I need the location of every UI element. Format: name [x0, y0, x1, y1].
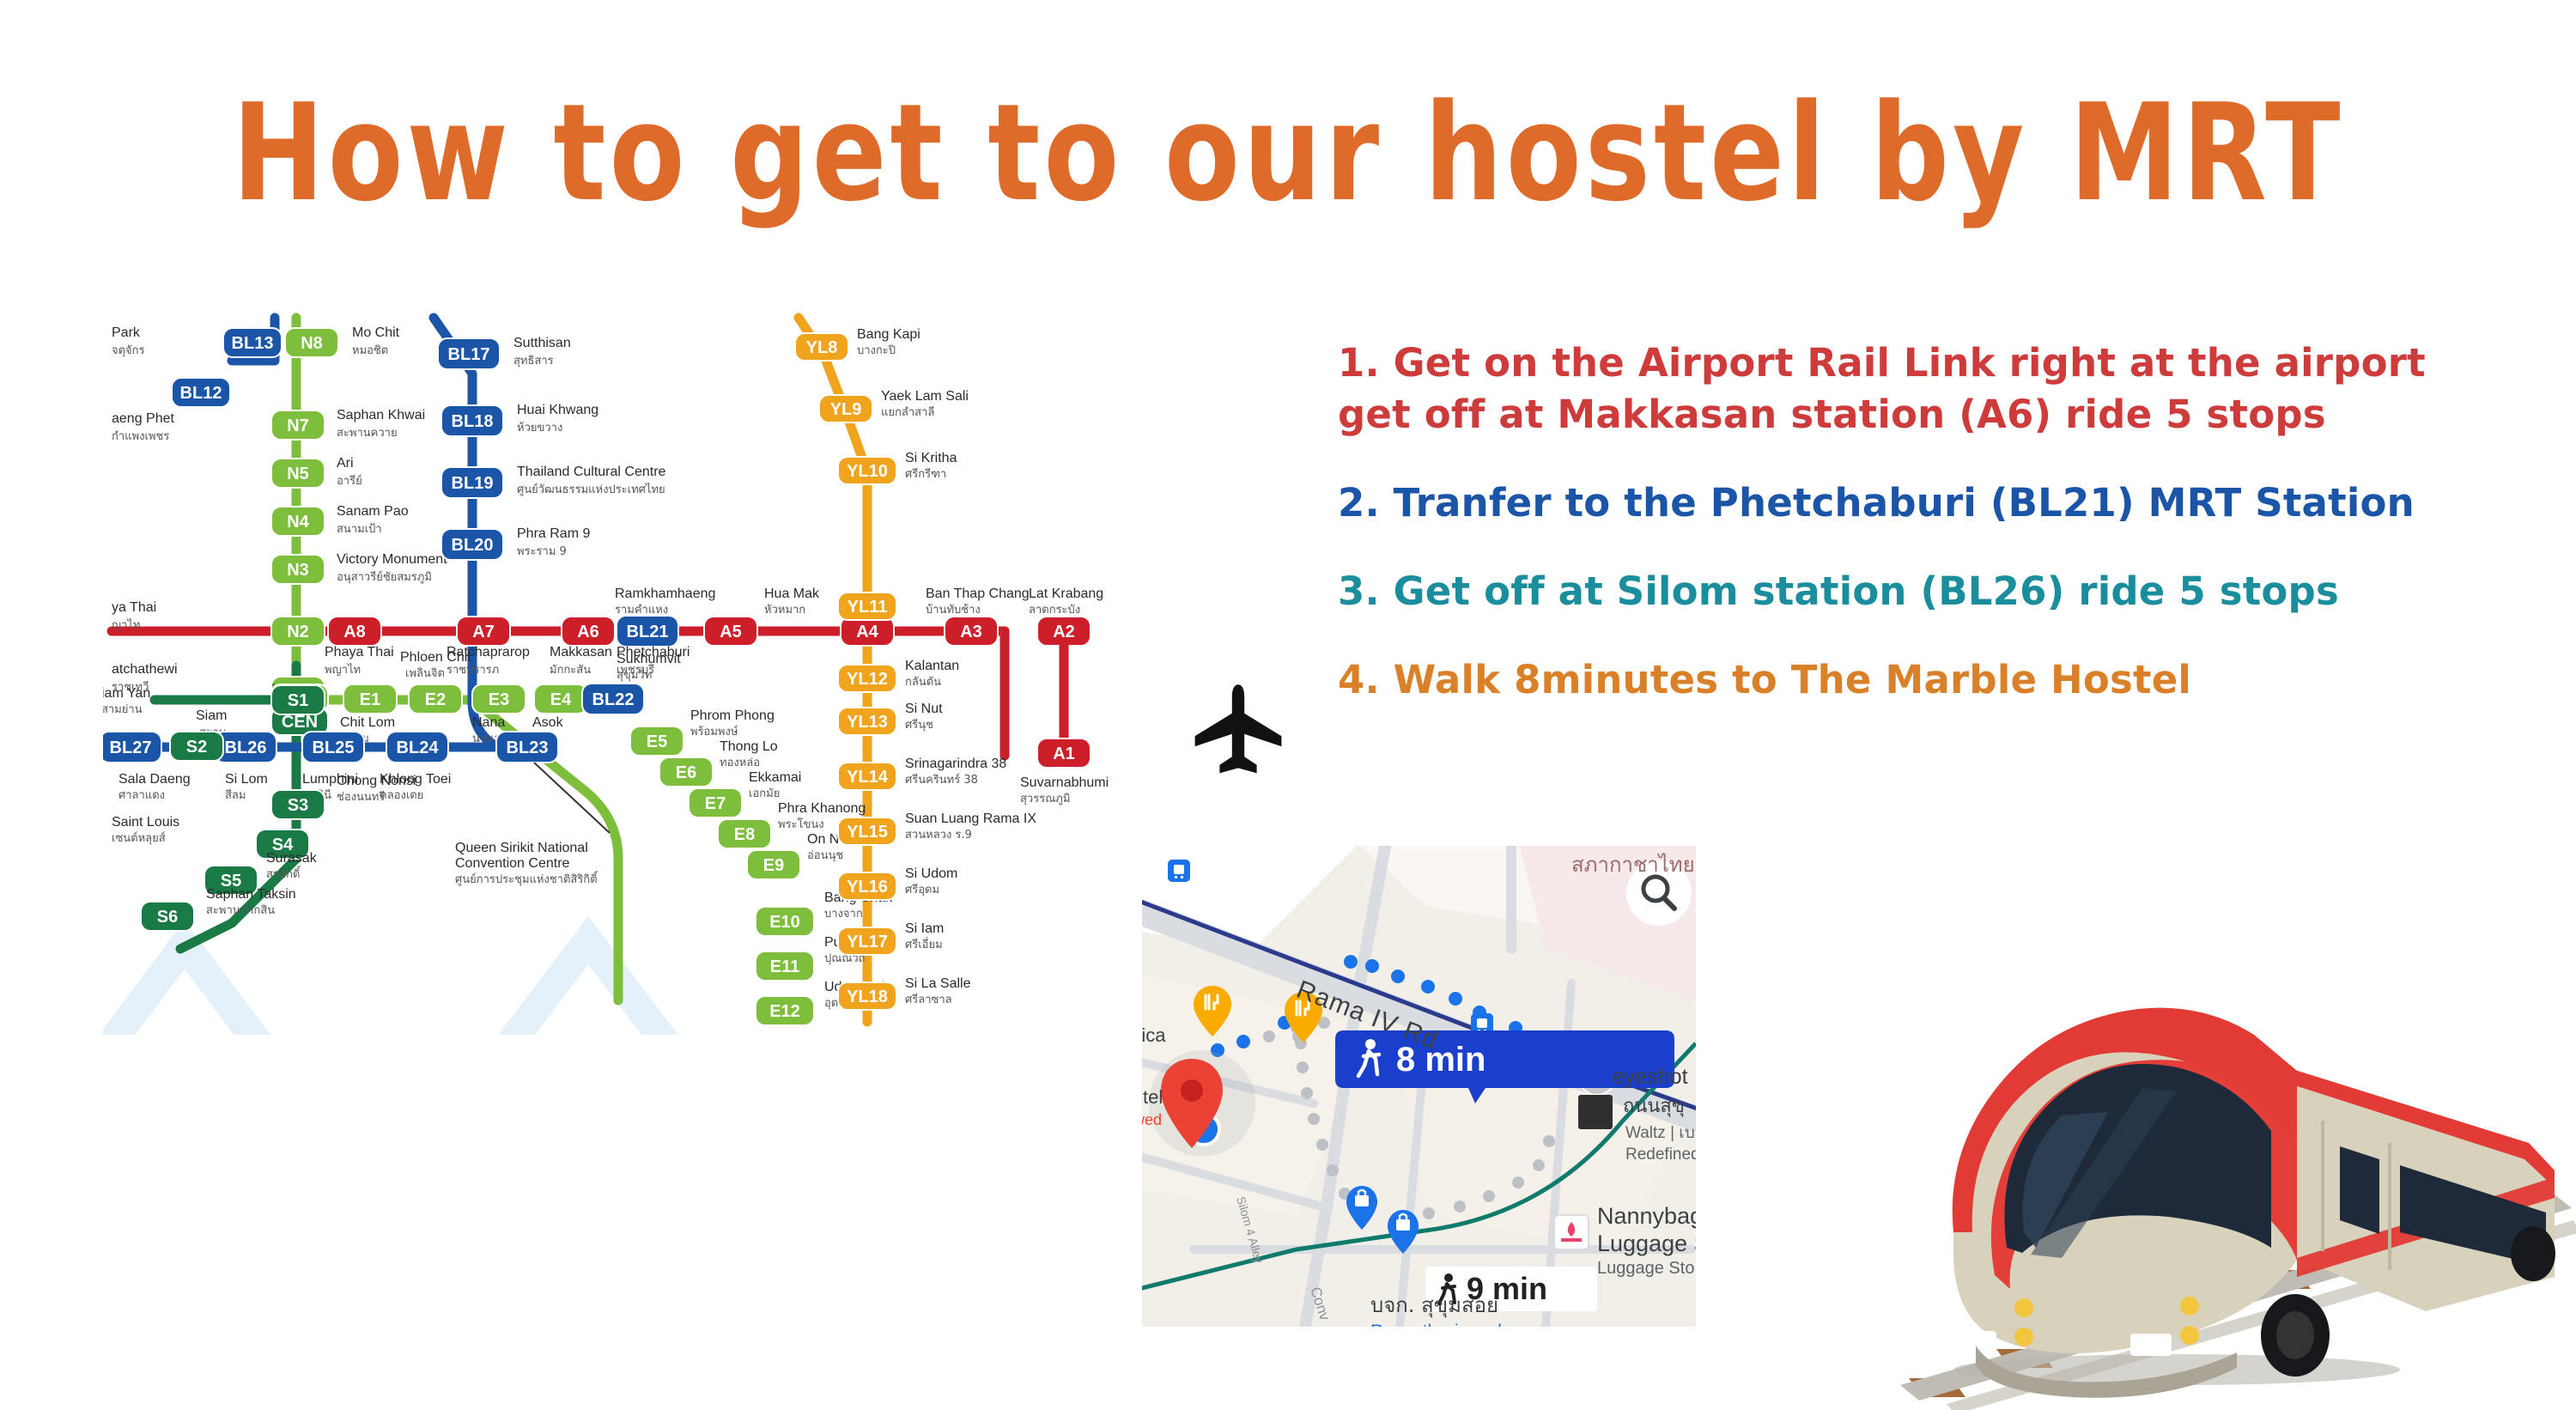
station-E5: E5	[630, 726, 683, 756]
station-BL18: BL18	[441, 405, 503, 436]
station-label-bang-kapi: Bang Kapi	[857, 327, 920, 342]
station-A6: A6	[562, 617, 615, 646]
poi-label-hostel-sub: wed	[1142, 1111, 1162, 1128]
train-headlight	[2014, 1298, 2033, 1317]
svg-text:กำแพงเพชร: กำแพงเพชร	[112, 430, 169, 443]
station-label-ekkamai: Ekkamai	[749, 770, 801, 785]
station-label-si-lom: Si Lom	[225, 772, 268, 787]
station-label-ratchathewi: atchathewi	[112, 662, 178, 677]
station-S6: S6	[141, 902, 194, 931]
svg-text:YL16: YL16	[847, 878, 888, 896]
svg-text:หัวหมาก: หัวหมาก	[764, 604, 805, 617]
poi-label-rica: rica	[1142, 1024, 1166, 1046]
poi-label-waltz: Waltz | เบ	[1625, 1124, 1695, 1142]
svg-text:E3: E3	[489, 690, 509, 709]
svg-text:ห้วยขวาง: ห้วยขวาง	[517, 422, 562, 435]
train-illustration	[1893, 975, 2576, 1410]
svg-text:BL19: BL19	[452, 474, 494, 493]
station-label-sam-yan: iam Yan	[103, 686, 150, 701]
poi-label-luggage-sub: Luggage Sto	[1597, 1259, 1694, 1278]
poi-label-eyeshot: eyeshot	[1613, 1065, 1688, 1089]
svg-text:N7: N7	[287, 416, 309, 435]
poi-label-nannybag: Nannybag	[1597, 1203, 1696, 1229]
train-headlight	[2180, 1326, 2199, 1345]
station-YL13: YL13	[838, 708, 896, 735]
station-YL12: YL12	[838, 665, 896, 692]
station-A1: A1	[1037, 738, 1091, 768]
station-S3: S3	[271, 790, 325, 819]
svg-text:ศรีนครินทร์ 38: ศรีนครินทร์ 38	[905, 773, 978, 787]
station-label-chit-lom: Chit Lom	[340, 715, 395, 730]
svg-text:ศรีลาซาล: ศรีลาซาล	[905, 993, 952, 1006]
poi-label-hostel: stel	[1142, 1086, 1163, 1108]
svg-text:E1: E1	[360, 690, 380, 709]
station-label-kalantan: Kalantan	[905, 659, 959, 673]
station-E2: E2	[409, 684, 462, 714]
infographic-page: How to get to our hostel by MRT .ln{fill…	[0, 0, 2576, 1410]
svg-text:บางจาก: บางจาก	[824, 908, 863, 921]
station-label-phra-khanong: Phra Khanong	[778, 801, 866, 816]
station-label-yaek-lam-sali: Yaek Lam Sali	[881, 389, 969, 404]
svg-text:สุขุมวิท: สุขุมวิท	[617, 669, 652, 682]
svg-text:ทองหล่อ: ทองหล่อ	[720, 757, 760, 769]
svg-text:S3: S3	[288, 796, 308, 815]
svg-text:E5: E5	[647, 732, 667, 751]
station-A3: A3	[945, 617, 998, 646]
station-label-saint-louis: Saint Louis	[112, 815, 179, 830]
train-lower-light	[1964, 1331, 1996, 1353]
station-label-siam: Siam	[196, 708, 227, 723]
svg-text:A5: A5	[720, 623, 742, 641]
station-E11: E11	[756, 951, 814, 981]
station-label-huai-khwang: Huai Khwang	[517, 403, 598, 417]
svg-text:พร้อมพงษ์: พร้อมพงษ์	[690, 725, 738, 738]
station-BL19: BL19	[441, 467, 503, 498]
svg-text:E2: E2	[425, 690, 446, 709]
train-wheel	[2511, 1226, 2555, 1281]
station-E9: E9	[747, 850, 800, 879]
svg-text:บางกะปิ: บางกะปิ	[857, 344, 896, 357]
station-label-sukhumvit: Sukhumvit	[617, 652, 681, 666]
station-label-thailand-cultural-centre: Thailand Cultural Centre	[517, 465, 666, 479]
svg-text:สนามเป้า: สนามเป้า	[337, 523, 382, 536]
station-BL24: BL24	[386, 732, 448, 763]
station-YL8: YL8	[795, 333, 848, 361]
svg-text:อารีย์: อารีย์	[337, 474, 362, 488]
svg-text:คลองเตย: คลองเตย	[380, 789, 423, 802]
station-BL22: BL22	[582, 684, 644, 714]
svg-text:ศรีอุดม: ศรีอุดม	[905, 883, 939, 896]
train-door-window	[2340, 1146, 2379, 1234]
svg-text:A3: A3	[960, 623, 982, 641]
station-label-phloen-chit: Phloen Chit	[400, 650, 471, 665]
svg-text:BL18: BL18	[452, 412, 494, 431]
station-label-saphan-taksin: Saphan Taksin	[206, 887, 296, 902]
svg-text:พระโขนง: พระโขนง	[778, 817, 824, 831]
svg-text:ลาดกระบัง: ลาดกระบัง	[1029, 604, 1080, 617]
svg-text:BL23: BL23	[507, 738, 549, 757]
station-label-saphan-khwai: Saphan Khwai	[337, 408, 425, 422]
mrt-system-map: .ln{fill:none;stroke-linecap:round;strok…	[103, 309, 1133, 1035]
svg-text:YL9: YL9	[830, 400, 862, 419]
station-BL21: BL21	[617, 616, 678, 647]
svg-text:.: .	[271, 674, 275, 689]
svg-text:เซนต์หลุยส์: เซนต์หลุยส์	[112, 831, 166, 845]
station-BL23: BL23	[496, 732, 558, 763]
station-N7: N7	[271, 410, 325, 440]
poi-label-thai-bottom: บจก. สุขุมสอย	[1370, 1293, 1498, 1318]
svg-text:พญาไท: พญาไท	[325, 663, 361, 677]
instruction-step-1: 1. Get on the Airport Rail Link right at…	[1338, 337, 2557, 441]
station-label-phrom-phong: Phrom Phong	[690, 708, 775, 723]
svg-text:เพลินจิต: เพลินจิต	[405, 667, 445, 680]
mrt-map-svg: .ln{fill:none;stroke-linecap:round;strok…	[103, 309, 1133, 1035]
svg-text:N8: N8	[301, 334, 323, 353]
svg-text:BL25: BL25	[313, 738, 355, 757]
poi-label-recently-viewed: Recently viewed	[1370, 1322, 1502, 1327]
svg-text:ช่องนนทรี: ช่องนนทรี	[337, 790, 385, 804]
svg-text:YL15: YL15	[847, 823, 888, 842]
train-headlight	[2180, 1297, 2199, 1316]
svg-text:BL26: BL26	[225, 738, 267, 757]
svg-text:A1: A1	[1053, 745, 1075, 763]
station-label-kamphaeng-phet: aeng Phet	[112, 411, 175, 426]
station-A4: A4	[841, 617, 894, 646]
svg-text:A6: A6	[577, 623, 599, 641]
station-label-ari: Ari	[337, 456, 354, 471]
svg-text:อ่อนนุช: อ่อนนุช	[807, 849, 843, 862]
poi-label-luggage: Luggage S	[1597, 1231, 1696, 1256]
svg-text:ราชปรารภ: ราชปรารภ	[447, 664, 499, 677]
svg-text:ญาไท: ญาไท	[112, 618, 140, 632]
svg-text:YL10: YL10	[847, 462, 888, 481]
svg-text:สวนหลวง ร.9: สวนหลวง ร.9	[905, 829, 972, 842]
svg-text:สุรศักดิ์: สุรศักดิ์	[266, 866, 301, 881]
station-N8: N8	[285, 328, 338, 357]
station-BL25: BL25	[302, 732, 364, 763]
svg-text:E11: E11	[770, 957, 799, 976]
station-YL16: YL16	[838, 872, 896, 900]
svg-text:เอกมัย: เอกมัย	[749, 787, 780, 800]
instruction-step-3: 3. Get off at Silom station (BL26) ride …	[1338, 566, 2557, 617]
station-BL17: BL17	[438, 338, 500, 369]
svg-text:N2: N2	[287, 623, 309, 641]
station-E3: E3	[472, 684, 526, 714]
station-label-sanam-pao: Sanam Pao	[337, 504, 409, 519]
svg-text:สีลม: สีลม	[225, 788, 246, 802]
station-YL11: YL11	[838, 593, 896, 620]
station-label-surasak: Surasak	[266, 851, 318, 866]
svg-text:N3: N3	[287, 561, 309, 580]
station-label-sutthisan: Sutthisan	[513, 336, 571, 350]
station-label-queen-sirikit: Queen Sirikit National	[455, 841, 588, 855]
station-label-si-la-salle: Si La Salle	[905, 976, 971, 991]
station-label-chatuchak-park: Park	[112, 325, 141, 340]
svg-text:YL18: YL18	[847, 988, 888, 1006]
station-label-nana: Nana	[472, 715, 505, 730]
instruction-step-2: 2. Tranfer to the Phetchaburi (BL21) MRT…	[1338, 477, 2557, 529]
svg-text:สามย่าน: สามย่าน	[103, 703, 143, 716]
svg-text:S1: S1	[288, 691, 308, 710]
svg-text:E7: E7	[705, 794, 726, 813]
svg-text:แยกลำสาลี: แยกลำสาลี	[881, 405, 934, 419]
station-E7: E7	[689, 788, 742, 817]
svg-text:ศรีกรีฑา: ศรีกรีฑา	[905, 467, 946, 481]
station-E6: E6	[659, 757, 713, 787]
svg-text:A7: A7	[472, 623, 495, 641]
station-N2: N2	[271, 617, 325, 646]
station-label-ramkhamhaeng: Ramkhamhaeng	[615, 586, 715, 601]
station-YL14: YL14	[838, 763, 896, 790]
station-label-si-udom: Si Udom	[905, 866, 957, 881]
station-E8: E8	[718, 819, 771, 848]
google-maps-svg[interactable]: 8 min 9 min Rama IV Rd Silom 4 Alley Con…	[1142, 846, 1696, 1327]
station-label-srinagarindra-38: Srinagarindra 38	[905, 757, 1006, 771]
train-headlight	[2014, 1328, 2033, 1346]
station-label-lat-krabang: Lat Krabang	[1029, 586, 1103, 601]
train-lower-light	[2130, 1334, 2172, 1356]
station-A7: A7	[457, 617, 510, 646]
svg-text:ศูนย์วัฒนธรรมแห่งประเทศไทย: ศูนย์วัฒนธรรมแห่งประเทศไทย	[517, 483, 665, 496]
station-E12: E12	[756, 996, 814, 1025]
svg-text:สุทธิสาร: สุทธิสาร	[513, 355, 554, 368]
google-maps-inset[interactable]: 8 min 9 min Rama IV Rd Silom 4 Alley Con…	[1142, 846, 1696, 1327]
svg-text:Convention Centre: Convention Centre	[455, 856, 570, 871]
station-label-mo-chit: Mo Chit	[352, 325, 400, 340]
station-N3: N3	[271, 555, 325, 584]
instruction-step-4: 4. Walk 8minutes to The Marble Hostel	[1338, 654, 2557, 706]
svg-text:YL14: YL14	[847, 768, 889, 787]
svg-text:มักกะสัน: มักกะสัน	[550, 664, 591, 677]
station-BL13: BL13	[223, 328, 282, 357]
svg-text:BL27: BL27	[110, 738, 152, 757]
svg-text:YL17: YL17	[847, 933, 888, 951]
svg-text:CEN: CEN	[282, 713, 318, 732]
svg-text:E9: E9	[763, 856, 784, 875]
svg-text:ศาลาแดง: ศาลาแดง	[118, 789, 165, 802]
station-label-si-iam: Si Iam	[905, 921, 944, 936]
svg-text:E4: E4	[550, 690, 572, 709]
station-A5: A5	[704, 617, 757, 646]
svg-text:S2: S2	[186, 738, 207, 757]
svg-text:N4: N4	[287, 513, 309, 532]
svg-text:BL21: BL21	[627, 623, 669, 641]
station-A8: A8	[328, 617, 381, 646]
station-label-phaya-thai-bts: ya Thai	[112, 600, 156, 615]
station-YL9: YL9	[819, 395, 872, 422]
svg-text:BL20: BL20	[452, 536, 494, 555]
photo-marker[interactable]	[1578, 1095, 1613, 1129]
svg-text:อนุสาวรีย์ชัยสมรภูมิ: อนุสาวรีย์ชัยสมรภูมิ	[337, 570, 432, 584]
svg-text:E12: E12	[769, 1002, 800, 1021]
station-S1: S1	[271, 685, 325, 714]
poi-label-redefined: Redefined	[1625, 1146, 1696, 1164]
station-label-victory-monument: Victory Monument	[337, 552, 447, 567]
svg-text:N5: N5	[287, 465, 309, 483]
station-label-phaya-thai: Phaya Thai	[325, 645, 394, 659]
station-BL20: BL20	[441, 529, 503, 560]
svg-text:ศูนย์การประชุมแห่งชาติสิริกิติ: ศูนย์การประชุมแห่งชาติสิริกิติ์	[455, 871, 598, 886]
instruction-list: 1. Get on the Airport Rail Link right at…	[1338, 337, 2557, 706]
svg-text:E8: E8	[734, 825, 755, 844]
station-YL15: YL15	[838, 817, 896, 845]
station-E1: E1	[343, 684, 397, 714]
svg-text:BL12: BL12	[180, 384, 222, 403]
poi-label-thai-top: สภากาชาไทย	[1571, 853, 1695, 877]
svg-text:สุวรรณภูมิ: สุวรรณภูมิ	[1020, 793, 1070, 805]
station-BL27: BL27	[103, 732, 161, 763]
nannybag-icon[interactable]	[1554, 1215, 1589, 1249]
station-label-phra-ram-9: Phra Ram 9	[517, 526, 590, 541]
station-E10: E10	[756, 907, 814, 936]
svg-text:สะพานตากสิน: สะพานตากสิน	[206, 904, 275, 917]
station-label-thong-lo: Thong Lo	[720, 739, 778, 754]
station-label-si-nut: Si Nut	[905, 702, 943, 716]
transit-marker-icon[interactable]	[1168, 860, 1190, 882]
svg-text:รามคำแหง: รามคำแหง	[615, 604, 668, 617]
station-label-makkasan: Makkasan	[550, 645, 612, 659]
station-label-si-kritha: Si Kritha	[905, 451, 957, 465]
svg-text:E6: E6	[676, 763, 696, 782]
station-label-suan-luang-rama-ix: Suan Luang Rama IX	[905, 811, 1036, 826]
svg-text:YL11: YL11	[848, 598, 888, 617]
station-label-asok: Asok	[532, 715, 564, 730]
svg-text:ศรีนุช: ศรีนุช	[905, 718, 933, 732]
svg-text:A2: A2	[1053, 623, 1075, 641]
station-label-suvarnabhumi: Suvarnabhumi	[1020, 775, 1109, 790]
svg-text:จตุจักร: จตุจักร	[112, 344, 145, 357]
svg-text:BL13: BL13	[232, 334, 274, 353]
station-YL17: YL17	[838, 927, 896, 955]
svg-text:บ้านทับช้าง: บ้านทับช้าง	[926, 604, 981, 617]
station-label-sala-daeng: Sala Daeng	[118, 772, 191, 787]
station-E4: E4	[534, 684, 587, 714]
svg-text:BL24: BL24	[397, 738, 440, 757]
station-N5: N5	[271, 459, 325, 488]
svg-text:กลันตัน: กลันตัน	[905, 676, 941, 689]
svg-text:E10: E10	[769, 913, 800, 932]
station-S2: S2	[170, 732, 223, 761]
svg-text:YL13: YL13	[847, 713, 888, 732]
river-decoration	[103, 940, 683, 1035]
svg-text:สะพานควาย: สะพานควาย	[337, 427, 398, 440]
svg-text:หมอชิต: หมอชิต	[352, 344, 388, 357]
svg-text:พระราม 9: พระราม 9	[517, 545, 567, 558]
airplane-icon	[1187, 678, 1290, 781]
station-label-ban-thap-chang: Ban Thap Chang	[926, 586, 1030, 601]
svg-text:S6: S6	[157, 908, 178, 927]
svg-text:YL12: YL12	[847, 670, 888, 689]
page-title: How to get to our hostel by MRT	[0, 76, 2576, 232]
station-YL18: YL18	[838, 982, 896, 1010]
station-YL10: YL10	[838, 457, 896, 484]
svg-text:A8: A8	[343, 623, 366, 641]
svg-text:BL22: BL22	[592, 690, 635, 709]
station-label-hua-mak: Hua Mak	[764, 586, 820, 601]
svg-text:BL17: BL17	[448, 345, 490, 364]
svg-text:A4: A4	[856, 623, 878, 641]
station-BL12: BL12	[172, 378, 230, 407]
svg-text:YL8: YL8	[806, 338, 838, 357]
station-N4: N4	[271, 507, 325, 536]
station-label-chong-nonsi: Chong Nonsi	[337, 774, 416, 788]
poi-label-thai-1: ถนนสุขุ	[1623, 1096, 1685, 1117]
svg-text:ศรีเอี่ยม: ศรีเอี่ยม	[905, 937, 943, 951]
